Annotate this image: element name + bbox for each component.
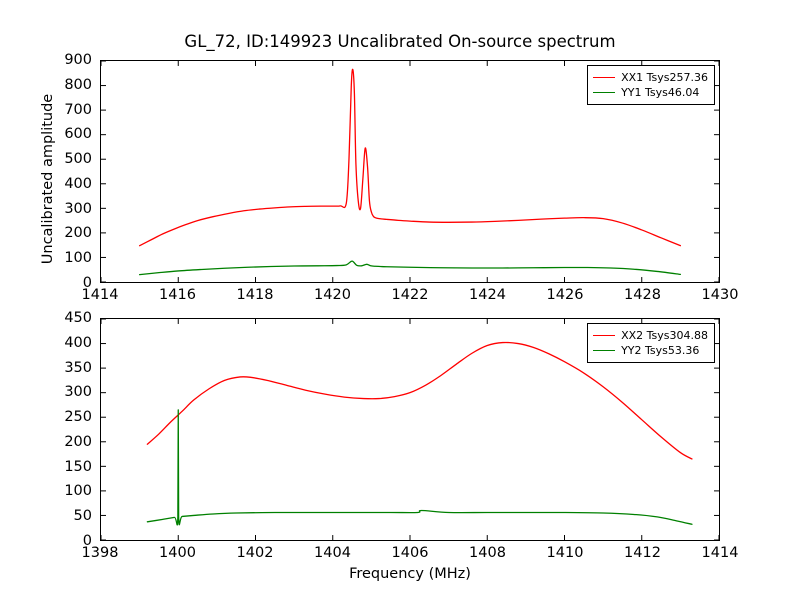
x-axis-ticks-bottom: 139814001402140414061408141014121414 bbox=[0, 545, 800, 565]
x-tick-label: 1430 bbox=[702, 287, 739, 303]
spectrum-trace bbox=[147, 410, 692, 525]
x-tick-label: 1404 bbox=[314, 545, 351, 561]
y-tick-label: 600 bbox=[64, 126, 92, 142]
x-tick-label: 1428 bbox=[624, 287, 661, 303]
legend-color-swatch bbox=[593, 92, 615, 93]
y-tick-label: 700 bbox=[64, 102, 92, 118]
page-title: GL_72, ID:149923 Uncalibrated On-source … bbox=[0, 32, 800, 51]
x-axis-label: Frequency (MHz) bbox=[100, 566, 720, 582]
y-tick-label: 100 bbox=[64, 483, 92, 499]
y-tick-label: 900 bbox=[64, 52, 92, 68]
x-tick-label: 1408 bbox=[469, 545, 506, 561]
y-tick-label: 200 bbox=[64, 434, 92, 450]
y-tick-label: 300 bbox=[64, 384, 92, 400]
x-tick-label: 1402 bbox=[237, 545, 274, 561]
x-tick-label: 1412 bbox=[624, 545, 661, 561]
legend-item: XX1 Tsys257.36 bbox=[593, 70, 708, 85]
x-tick-label: 1414 bbox=[702, 545, 739, 561]
plot-panel-top: XX1 Tsys257.36YY1 Tsys46.04 bbox=[100, 60, 720, 283]
x-tick-label: 1420 bbox=[314, 287, 351, 303]
x-tick-label: 1400 bbox=[159, 545, 196, 561]
legend-item: YY1 Tsys46.04 bbox=[593, 85, 708, 100]
legend-label: YY2 Tsys53.36 bbox=[621, 344, 699, 358]
legend-bottom: XX2 Tsys304.88YY2 Tsys53.36 bbox=[587, 323, 715, 363]
legend-item: XX2 Tsys304.88 bbox=[593, 328, 708, 343]
x-tick-label: 1410 bbox=[547, 545, 584, 561]
y-tick-label: 250 bbox=[64, 409, 92, 425]
y-tick-label: 450 bbox=[64, 310, 92, 326]
x-tick-label: 1426 bbox=[547, 287, 584, 303]
legend-label: XX1 Tsys257.36 bbox=[621, 71, 708, 85]
y-tick-label: 800 bbox=[64, 77, 92, 93]
legend-color-swatch bbox=[593, 335, 615, 336]
spectrum-trace bbox=[140, 261, 681, 275]
legend-top: XX1 Tsys257.36YY1 Tsys46.04 bbox=[587, 65, 715, 105]
plot-panel-bottom: XX2 Tsys304.88YY2 Tsys53.36 bbox=[100, 318, 720, 541]
legend-label: XX2 Tsys304.88 bbox=[621, 329, 708, 343]
legend-color-swatch bbox=[593, 350, 615, 351]
y-tick-label: 500 bbox=[64, 151, 92, 167]
x-tick-label: 1416 bbox=[159, 287, 196, 303]
y-axis-ticks-bottom: 050100150200250300350400450 bbox=[0, 318, 92, 541]
x-tick-label: 1424 bbox=[469, 287, 506, 303]
x-tick-label: 1406 bbox=[392, 545, 429, 561]
y-tick-label: 100 bbox=[64, 250, 92, 266]
x-tick-label: 1398 bbox=[82, 545, 119, 561]
y-tick-label: 150 bbox=[64, 459, 92, 475]
y-tick-label: 400 bbox=[64, 176, 92, 192]
x-tick-label: 1414 bbox=[82, 287, 119, 303]
x-axis-ticks-top: 141414161418142014221424142614281430 bbox=[0, 287, 800, 307]
spectrum-figure: GL_72, ID:149923 Uncalibrated On-source … bbox=[0, 0, 800, 600]
y-tick-label: 350 bbox=[64, 360, 92, 376]
legend-item: YY2 Tsys53.36 bbox=[593, 343, 708, 358]
x-tick-label: 1422 bbox=[392, 287, 429, 303]
y-tick-label: 200 bbox=[64, 225, 92, 241]
x-tick-label: 1418 bbox=[237, 287, 274, 303]
legend-color-swatch bbox=[593, 77, 615, 78]
y-axis-ticks-top: 0100200300400500600700800900 bbox=[0, 60, 92, 283]
y-tick-label: 50 bbox=[74, 508, 92, 524]
y-tick-label: 400 bbox=[64, 335, 92, 351]
legend-label: YY1 Tsys46.04 bbox=[621, 86, 699, 100]
y-tick-label: 300 bbox=[64, 201, 92, 217]
